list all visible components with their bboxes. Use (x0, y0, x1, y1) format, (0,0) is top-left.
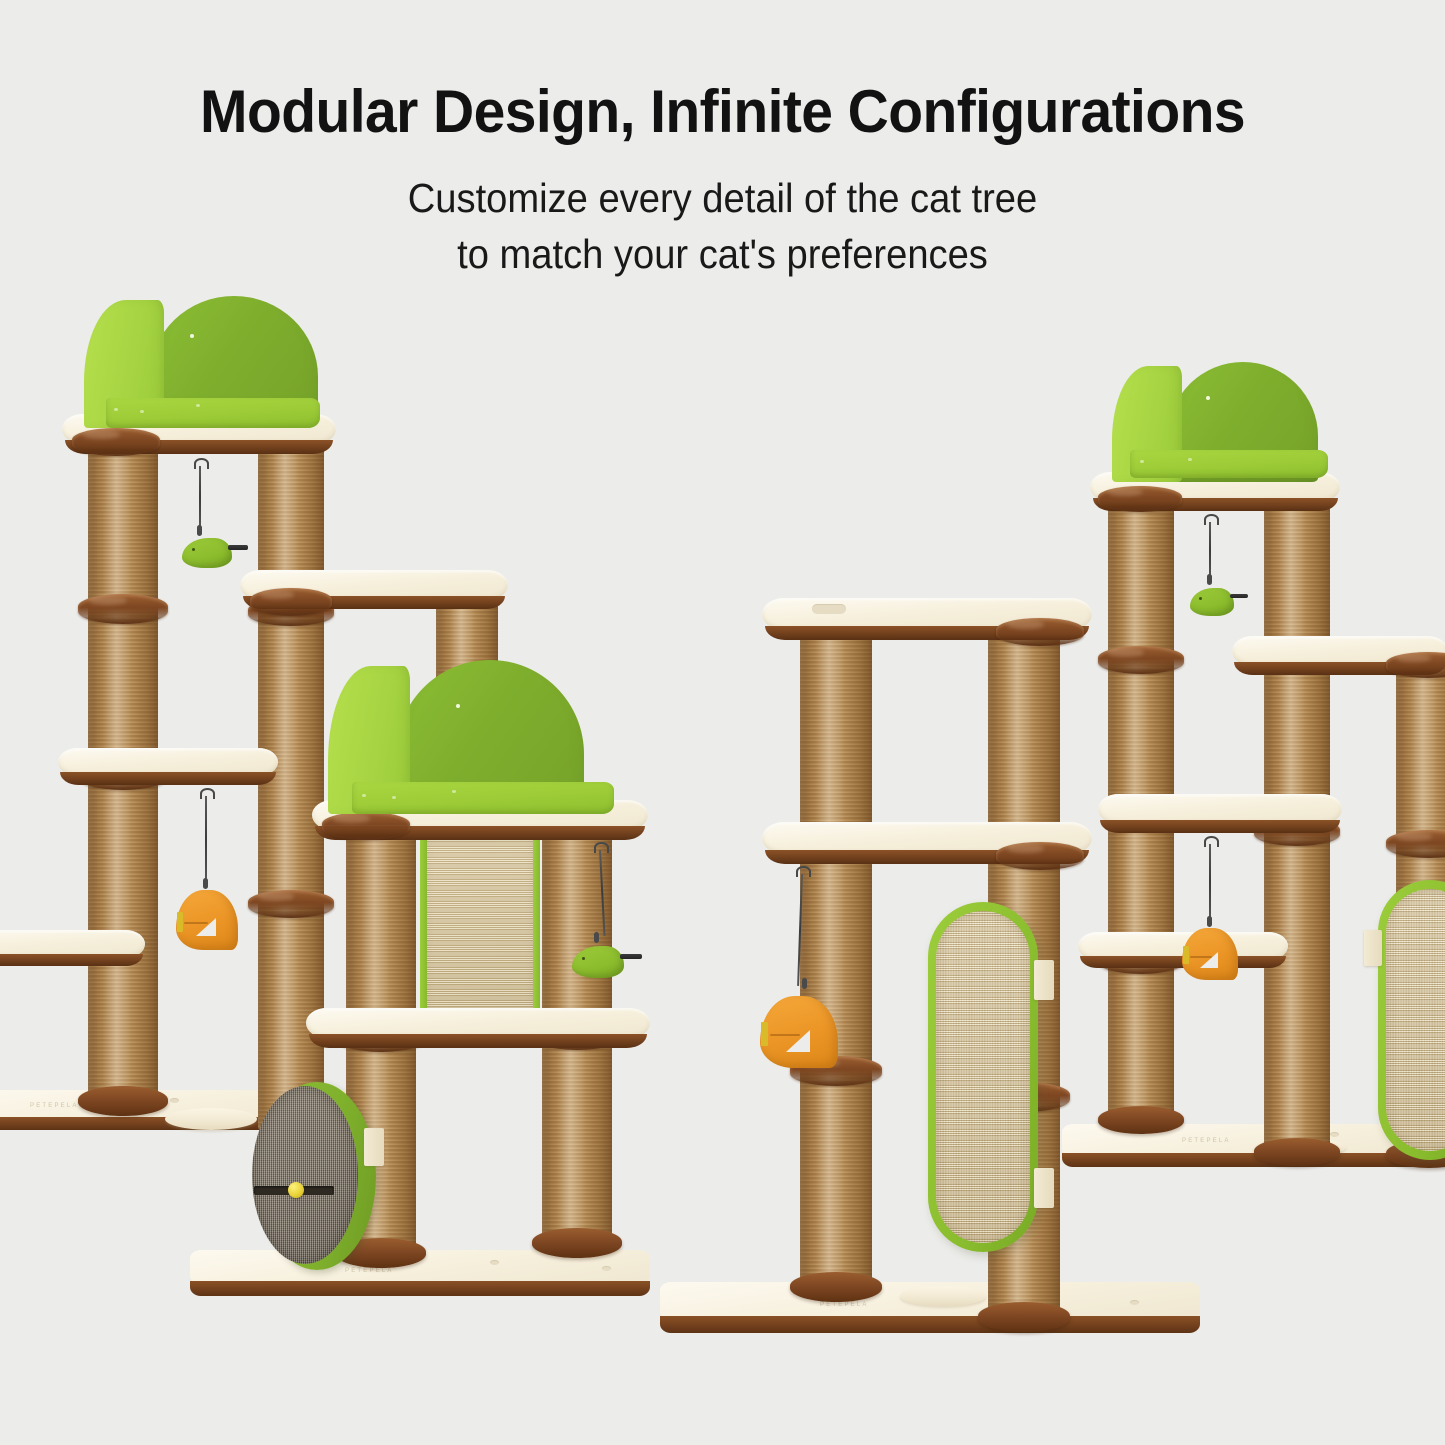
green-rimmed-oval-scratch-pad (1378, 880, 1445, 1160)
brown-collar-ring (996, 618, 1084, 646)
cream-platform (58, 748, 278, 790)
toy-hook (200, 788, 215, 799)
page-title: Modular Design, Infinite Configurations (36, 0, 1409, 144)
wheel-clip (364, 1128, 384, 1166)
brown-collar-ring (72, 428, 160, 456)
toy-hook (1204, 514, 1219, 525)
toy-swivel (1207, 574, 1212, 585)
brown-collar-ring (1386, 652, 1445, 678)
brown-collar-ring (1098, 486, 1182, 512)
post-footing (1254, 1138, 1340, 1166)
fish-tab (1183, 946, 1189, 964)
post-footing (1098, 1106, 1184, 1134)
green-bird-toy (182, 538, 232, 568)
toy-swivel (594, 932, 599, 943)
post-footing (532, 1228, 622, 1258)
pad-clip (1034, 960, 1054, 1000)
toy-cord (1209, 522, 1211, 578)
bird-tail (228, 545, 248, 550)
toy-cord (1209, 844, 1211, 920)
circular-scratch-wheel (258, 1082, 376, 1270)
toy-swivel (1207, 916, 1212, 927)
hood-seat (1130, 450, 1328, 478)
pad-clip (1364, 930, 1382, 966)
subtitle-line-1: Customize every detail of the cat tree (408, 175, 1037, 221)
green-rimmed-oval-scratch-pad (928, 902, 1038, 1252)
toy-cord (199, 466, 201, 528)
toy-hook (796, 866, 811, 877)
pad-clip (1034, 1168, 1054, 1208)
orange-fish-toy (176, 890, 238, 950)
brown-collar-ring (1098, 646, 1184, 674)
toy-hook (594, 842, 609, 853)
bird-tail (620, 954, 642, 959)
subtitle-line-2: to match your cat's preferences (457, 231, 988, 277)
yellow-bell (288, 1182, 304, 1198)
brown-collar-ring (996, 842, 1084, 870)
toy-cord (205, 796, 207, 882)
toy-swivel (802, 978, 807, 989)
fish-tab (177, 912, 183, 932)
brown-collar-ring (322, 812, 410, 840)
orange-fish-toy (760, 996, 838, 1068)
toy-swivel (197, 525, 202, 536)
spare-disc (900, 1286, 986, 1306)
post-footing (78, 1086, 168, 1116)
cream-platform (0, 930, 145, 970)
brown-collar-ring (1386, 830, 1445, 858)
toy-hook (194, 458, 209, 469)
spare-disc (165, 1108, 257, 1130)
cream-platform (306, 1008, 650, 1052)
hood-seat (106, 398, 320, 428)
bird-tail (1230, 594, 1248, 598)
post-footing (978, 1302, 1070, 1332)
toy-swivel (203, 878, 208, 889)
toy-hook (1204, 836, 1219, 847)
green-bird-toy (1190, 588, 1234, 616)
orange-fish-toy (1182, 928, 1238, 980)
fish-tab (761, 1022, 768, 1046)
cream-platform (1098, 794, 1342, 838)
page-subtitle: Customize every detail of the cat tree t… (51, 144, 1395, 283)
marketing-copy: Modular Design, Infinite Configurations … (0, 0, 1445, 283)
brown-collar-ring (248, 890, 334, 918)
brown-collar-ring (250, 588, 332, 616)
sisal-post (800, 636, 872, 1296)
brown-collar-ring (78, 594, 168, 624)
post-footing (790, 1272, 882, 1302)
green-bird-toy (572, 946, 624, 978)
